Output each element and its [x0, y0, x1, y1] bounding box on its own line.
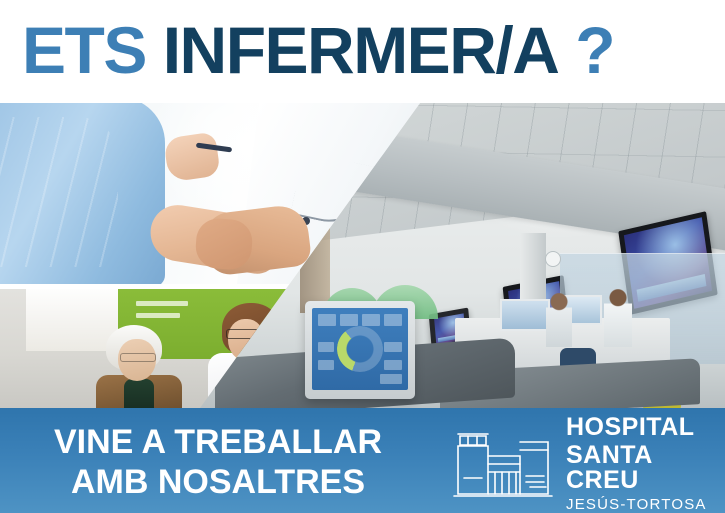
headline-bar: ETS INFERMER/A ? — [0, 0, 725, 103]
headline-question-mark: ? — [575, 13, 614, 87]
workstation-monitor-1 — [500, 299, 550, 331]
nurse-scrubs — [0, 103, 165, 284]
dialysis-machine-monitor — [305, 301, 415, 399]
slogan-line-1: VINE A TREBALLAR — [54, 423, 382, 461]
headline-part-infermera: INFERMER/A — [163, 13, 559, 87]
gauge-indicator — [337, 326, 383, 372]
elderly-patient — [96, 325, 182, 408]
wall-sign-line-1 — [136, 301, 188, 306]
patient-glasses-icon — [120, 353, 156, 362]
staff-member-2 — [604, 289, 632, 347]
staff-member-1 — [546, 293, 572, 347]
logo-line-3: JESÚS-TORTOSA — [566, 497, 716, 512]
logo-text: HOSPITAL SANTA CREU JESÚS-TORTOSA — [566, 415, 716, 512]
hospital-logo: HOSPITAL SANTA CREU JESÚS-TORTOSA — [448, 424, 716, 502]
photo-collage — [0, 103, 725, 408]
recruitment-poster: ETS INFERMER/A ? — [0, 0, 725, 513]
logo-line-2: SANTA CREU — [566, 443, 716, 493]
logo-line-1: HOSPITAL — [566, 415, 716, 440]
headline-part-ets: ETS — [22, 13, 146, 87]
patient-shirt — [124, 379, 154, 408]
wall-sign-line-2 — [136, 313, 180, 318]
page-title: ETS INFERMER/A ? — [22, 14, 614, 86]
slogan: VINE A TREBALLAR AMB NOSALTRES — [18, 422, 418, 502]
hospital-building-icon — [448, 426, 556, 500]
wall-clock-icon — [545, 251, 561, 267]
machine-screen — [312, 308, 408, 390]
doctor-hand-with-pen — [163, 132, 221, 183]
handshake-grip — [194, 217, 253, 271]
slogan-line-2: AMB NOSALTRES — [18, 462, 418, 502]
scrubs-folds — [0, 117, 118, 267]
